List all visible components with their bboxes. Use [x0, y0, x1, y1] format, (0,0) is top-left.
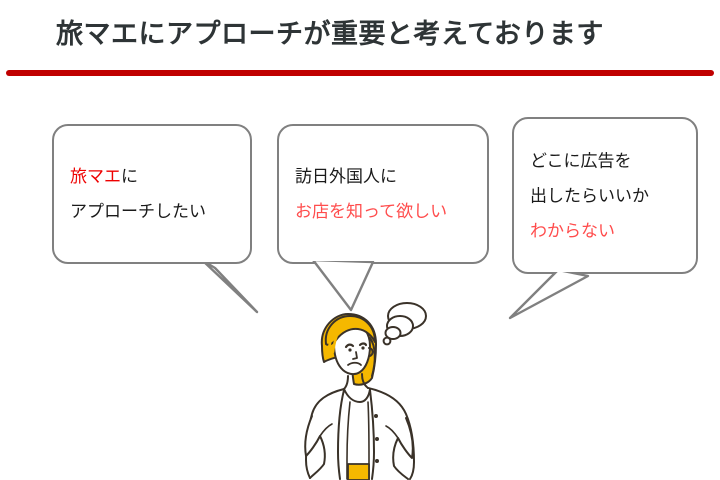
balloon-3-line-3: わからない	[530, 222, 686, 239]
balloon-3-line-1: どこに広告を	[530, 152, 686, 169]
balloon-1-line-1: 旅マエに	[70, 168, 240, 185]
speech-balloon-1: 旅マエに アプローチしたい	[52, 124, 252, 264]
speech-balloon-2: 訪日外国人に お店を知って欲しい	[277, 124, 489, 264]
thought-cloud-icon	[384, 303, 426, 344]
balloon-1-line-2: アプローチしたい	[70, 203, 240, 220]
balloon-1-line-1-rest: に	[121, 167, 138, 186]
balloon-2-line-1: 訪日外国人に	[295, 168, 477, 185]
speech-balloon-3: どこに広告を 出したらいいか わからない	[512, 117, 698, 274]
page-title: 旅マエにアプローチが重要と考えております	[56, 18, 604, 50]
balloon-1-text: 旅マエに アプローチしたい	[70, 168, 240, 220]
balloon-3-text: どこに広告を 出したらいいか わからない	[530, 152, 686, 239]
slide-canvas: 旅マエにアプローチが重要と考えております 旅マエに アプローチしたい 訪日外国人…	[0, 0, 720, 480]
balloon-2-line-2: お店を知って欲しい	[295, 203, 477, 220]
title-underline-rule	[6, 70, 714, 76]
balloon-3-line-2: 出したらいいか	[530, 187, 686, 204]
balloon-2-text: 訪日外国人に お店を知って欲しい	[295, 168, 477, 220]
worried-woman-illustration	[290, 300, 455, 480]
balloon-1-line-1-highlight: 旅マエ	[70, 167, 121, 186]
balloon-1-tail	[52, 258, 262, 314]
balloon-3-tail	[502, 268, 712, 324]
